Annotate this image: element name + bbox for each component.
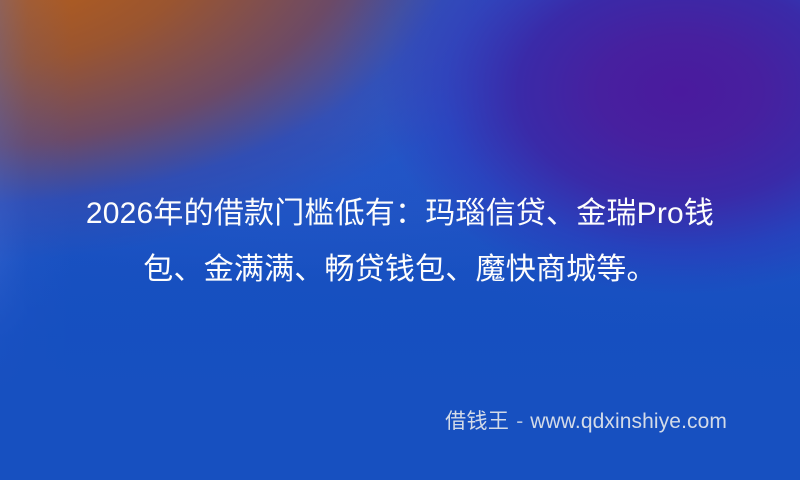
- headline-text: 2026年的借款门槛低有：玛瑙信贷、金瑞Pro钱包、金满满、畅贷钱包、魔快商城等…: [0, 186, 800, 298]
- watermark: 借钱王 - www.qdxinshiye.com: [445, 409, 727, 434]
- watermark-url: www.qdxinshiye.com: [530, 409, 727, 434]
- watermark-brand: 借钱王: [445, 409, 509, 434]
- poster-canvas: 2026年的借款门槛低有：玛瑙信贷、金瑞Pro钱包、金满满、畅贷钱包、魔快商城等…: [0, 0, 800, 480]
- watermark-separator: -: [516, 409, 523, 434]
